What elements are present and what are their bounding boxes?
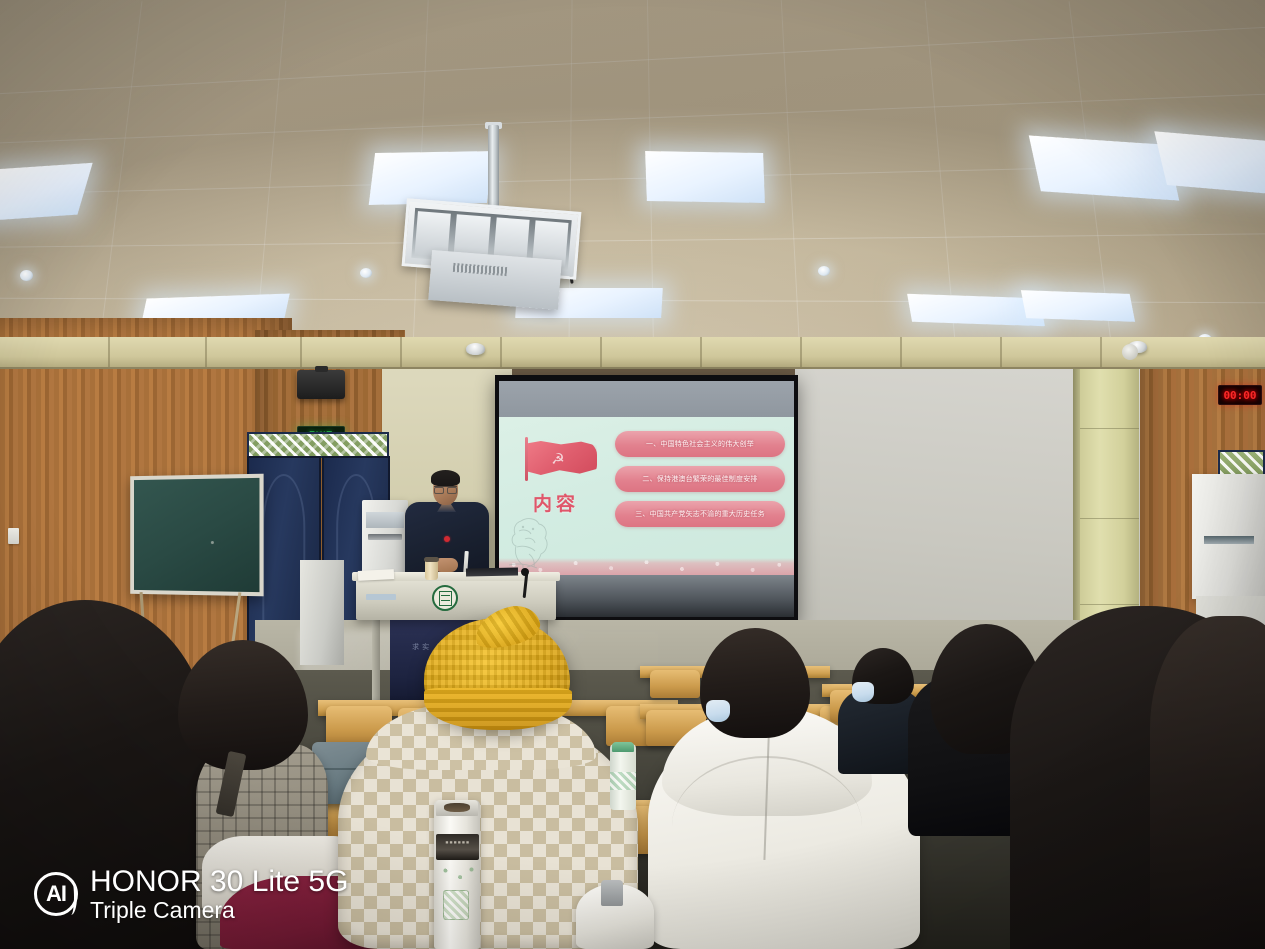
slide-content-list: 一、中国特色社会主义的伟大创举 二、保持港澳台繁荣的最佳制度安排 三、中国共产党… — [615, 431, 785, 527]
green-bottle-cap — [612, 742, 634, 752]
presenter-lapel-badge — [444, 536, 450, 542]
podium-mug-lid — [424, 557, 439, 562]
party-flag-graphic: ☭ — [525, 437, 597, 481]
door-transom-grille-left — [247, 432, 389, 458]
slide-title: 内容 — [533, 489, 579, 516]
lecture-hall-photo: EXIT 00:00 ☭ 内容 — [0, 0, 1265, 949]
projection-screen-top-blank — [499, 381, 794, 417]
dome-camera-icon — [466, 343, 485, 355]
audience-member-hair — [1150, 616, 1265, 949]
projector-body — [428, 250, 562, 310]
face-mask — [706, 700, 730, 722]
hammer-sickle-icon: ☭ — [549, 451, 567, 468]
school-crest-icon — [432, 585, 458, 611]
green-bottle-label — [610, 772, 636, 790]
thermos-lid-opening — [444, 803, 470, 812]
ceiling-panel-light — [645, 151, 765, 203]
slide-item-text: 三、中国共产党矢志不渝的重大历史任务 — [635, 509, 765, 519]
thermos-sticker — [443, 890, 469, 920]
ceiling-panel-light — [1154, 131, 1265, 195]
av-cabinet-left-low — [300, 560, 344, 665]
podium-leg — [372, 620, 380, 708]
honor-ai-logo: AI — [34, 872, 78, 916]
podium-notebook — [466, 568, 518, 577]
ceiling-downlight — [360, 268, 372, 278]
thermos-dot-pattern — [437, 864, 479, 886]
honor-ai-logo-text: AI — [46, 883, 66, 905]
av-rack-right — [1192, 474, 1265, 599]
podium-microphone-head — [521, 568, 529, 576]
projector-mount-pole — [488, 125, 499, 213]
face-mask — [852, 682, 874, 702]
slide-list-item: 二、保持港澳台繁荣的最佳制度安排 — [615, 466, 785, 492]
slide-item-text: 一、中国特色社会主义的伟大创举 — [646, 439, 754, 449]
wall-speaker — [297, 370, 345, 399]
presenter-hair — [431, 470, 460, 486]
watermark-device-name: HONOR 30 Lite 5G — [90, 866, 348, 898]
podium-papers — [358, 569, 394, 581]
seat-backrest — [650, 670, 700, 698]
slide-list-item: 一、中国特色社会主义的伟大创举 — [615, 431, 785, 457]
podium-side-shelf — [366, 594, 396, 600]
door-transom-grille-right — [1218, 450, 1265, 476]
line-drawing-figure — [505, 513, 557, 571]
thermos-display-text: ▪▪▪▪▪▪ — [436, 839, 479, 846]
chalkboard — [130, 474, 263, 597]
ceiling-downlight — [818, 266, 830, 276]
ceiling-downlight — [20, 270, 33, 281]
presenter-glasses — [434, 486, 457, 492]
slide-list-item: 三、中国共产党矢志不渝的重大历史任务 — [615, 501, 785, 527]
thermos-display-window: ▪▪▪▪▪▪ — [436, 834, 479, 860]
clock-digits: 00:00 — [1223, 389, 1256, 402]
ceiling-speaker-right — [1122, 344, 1138, 360]
wall-bulkhead — [0, 337, 1265, 369]
travel-cup-tab — [601, 880, 623, 906]
watermark-camera-mode: Triple Camera — [90, 898, 348, 923]
led-wall-clock: 00:00 — [1218, 385, 1262, 405]
podium-travel-mug — [425, 560, 438, 580]
camera-watermark: AI HONOR 30 Lite 5G Triple Camera — [34, 866, 348, 923]
presentation-slide: ☭ 内容 一、中国特色社会主义的伟大创举 二、保持港澳台繁荣的最佳制度安排 三、… — [499, 417, 794, 575]
ceiling-panel-light — [1021, 290, 1135, 322]
light-switch[interactable] — [8, 528, 19, 544]
ceiling-panel-light — [369, 151, 494, 205]
slide-item-text: 二、保持港澳台繁荣的最佳制度安排 — [642, 474, 757, 484]
